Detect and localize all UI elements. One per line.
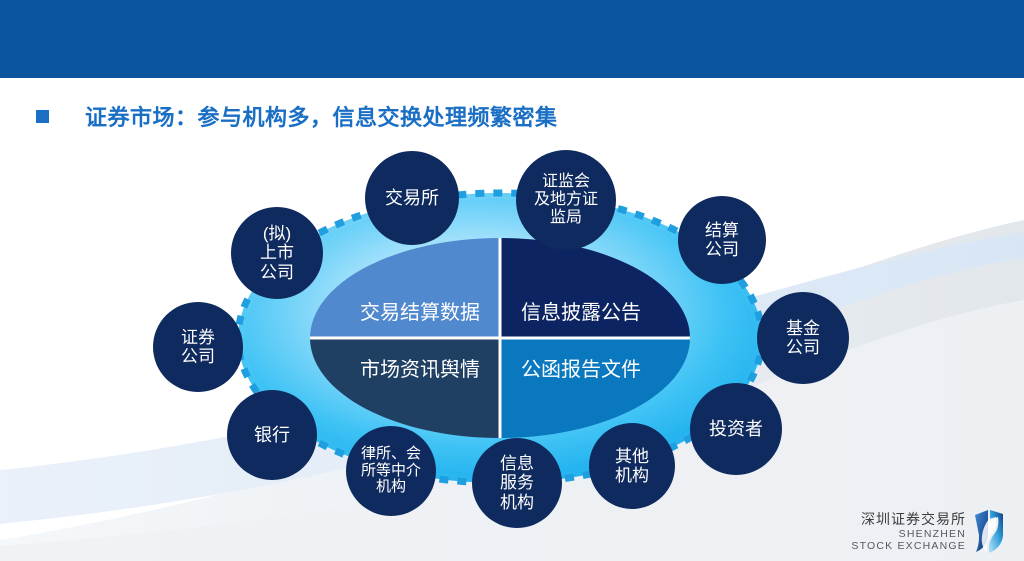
szse-logo: 深圳证券交易所 SHENZHEN STOCK EXCHANGE	[851, 509, 1006, 553]
node-info-service[interactable]: 信息 服务 机构	[472, 438, 562, 528]
node-clearing-company[interactable]: 结算 公司	[678, 196, 766, 284]
node-exchange[interactable]: 交易所	[365, 151, 459, 245]
node-intermediaries[interactable]: 律所、会 所等中介 机构	[346, 426, 436, 516]
logo-name-cn: 深圳证券交易所	[851, 511, 966, 528]
node-bank[interactable]: 银行	[227, 390, 317, 480]
quadrant-label-top-left: 交易结算数据	[355, 296, 485, 325]
quadrant-label-bottom-left: 市场资讯舆情	[355, 353, 485, 382]
szse-logo-mark	[972, 509, 1006, 553]
node-investor[interactable]: 投资者	[690, 383, 782, 475]
quadrant-label-top-right: 信息披露公告	[516, 296, 646, 325]
quadrant-group	[310, 238, 690, 438]
node-securities-company[interactable]: 证券 公司	[153, 302, 243, 392]
quadrant-label-bottom-right: 公函报告文件	[516, 353, 646, 382]
logo-name-en1: SHENZHEN	[851, 528, 966, 540]
logo-text-block: 深圳证券交易所 SHENZHEN STOCK EXCHANGE	[851, 511, 966, 552]
node-fund-company[interactable]: 基金 公司	[757, 292, 849, 384]
node-other-institutions[interactable]: 其他 机构	[589, 423, 675, 509]
node-listed-company[interactable]: (拟) 上市 公司	[231, 207, 323, 299]
slide-canvas: 证券市场信息处理 证券市场：参与机构多，信息交换处理频繁密集	[0, 0, 1024, 561]
node-csrc[interactable]: 证监会 及地方证 监局	[516, 150, 616, 250]
logo-name-en2: STOCK EXCHANGE	[851, 540, 966, 552]
